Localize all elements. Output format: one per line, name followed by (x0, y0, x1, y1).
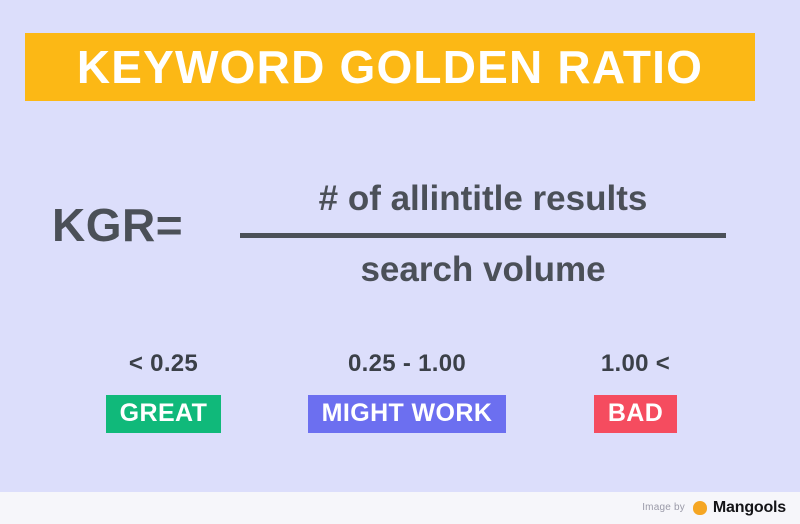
status-badge-great: GREAT (106, 395, 222, 433)
rating-scale: < 0.25 GREAT 0.25 - 1.00 MIGHT WORK 1.00… (0, 352, 800, 444)
rating-range-great: < 0.25 (129, 352, 198, 376)
attribution-prefix: Image by (642, 503, 685, 513)
footer-bar: Image by Mangools (0, 492, 800, 524)
formula-denominator: search volume (238, 252, 728, 287)
rating-range-bad: 1.00 < (601, 352, 670, 376)
rating-column-might-work: 0.25 - 1.00 MIGHT WORK (293, 352, 521, 433)
rating-range-might-work: 0.25 - 1.00 (348, 352, 466, 376)
formula-fraction: # of allintitle results search volume (238, 168, 728, 308)
status-badge-might-work: MIGHT WORK (308, 395, 507, 433)
formula-numerator: # of allintitle results (238, 181, 728, 216)
status-badge-bad: BAD (594, 395, 677, 433)
formula-label: KGR= (52, 202, 183, 248)
rating-column-bad: 1.00 < BAD (587, 352, 684, 433)
mangools-logo-icon (693, 501, 707, 515)
attribution: Image by Mangools (642, 500, 800, 516)
infographic-canvas: KEYWORD GOLDEN RATIO KGR= # of allintitl… (0, 0, 800, 524)
fraction-bar (240, 233, 726, 238)
title-banner: KEYWORD GOLDEN RATIO (25, 33, 755, 101)
infographic-body: KEYWORD GOLDEN RATIO KGR= # of allintitl… (0, 0, 800, 492)
rating-column-great: < 0.25 GREAT (97, 352, 230, 433)
page-title: KEYWORD GOLDEN RATIO (77, 44, 703, 90)
brand-name: Mangools (713, 500, 786, 516)
kgr-formula: KGR= # of allintitle results search volu… (0, 168, 800, 308)
